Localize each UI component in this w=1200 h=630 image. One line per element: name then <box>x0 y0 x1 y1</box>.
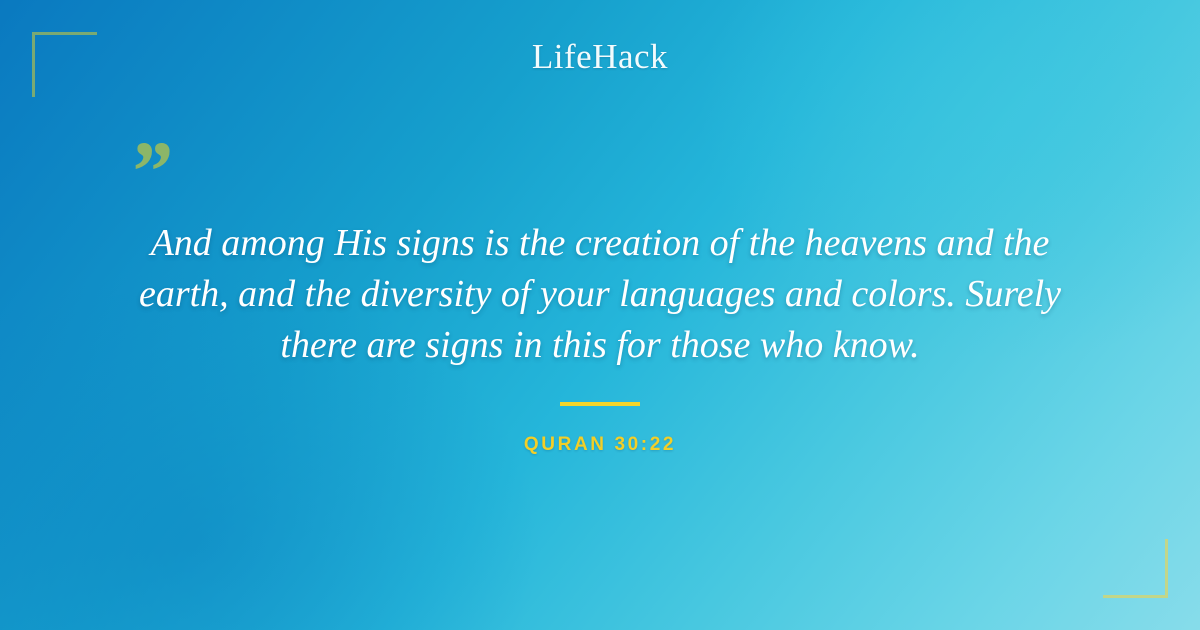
quote-line: earth, and the diversity of your languag… <box>86 269 1114 320</box>
attribution-source: QURAN 30:22 <box>0 434 1200 456</box>
quote-text: And among His signs is the creation of t… <box>86 218 1114 371</box>
attribution-divider <box>560 402 640 406</box>
brand-header: LifeHack <box>0 37 1200 77</box>
corner-bracket-bottom-right-icon <box>1103 539 1168 598</box>
quotation-mark-icon: ” <box>128 128 171 214</box>
quote-line: there are signs in this for those who kn… <box>86 320 1114 371</box>
attribution-block: QURAN 30:22 <box>0 402 1200 456</box>
quote-card: LifeHack ” And among His signs is the cr… <box>0 0 1200 630</box>
quote-line: And among His signs is the creation of t… <box>86 218 1114 269</box>
brand-logo: LifeHack <box>532 37 668 77</box>
